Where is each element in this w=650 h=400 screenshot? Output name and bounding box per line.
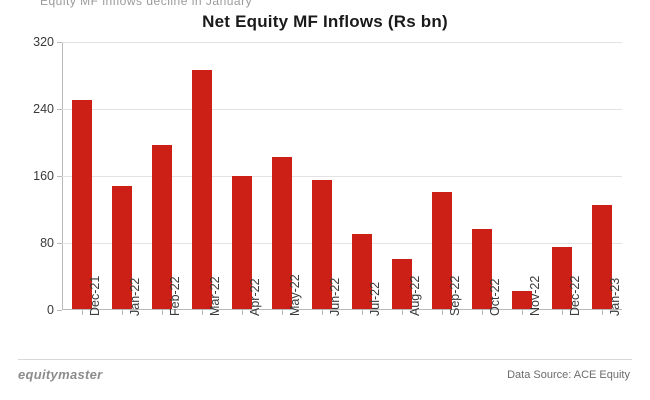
chart-container: Equity MF inflows decline in January Net… — [0, 0, 650, 400]
x-tick-mark — [82, 310, 83, 315]
x-tick-mark — [282, 310, 283, 315]
x-tick-label: Jul-22 — [368, 282, 382, 316]
y-tick-label: 0 — [47, 303, 54, 317]
y-tick-mark — [57, 310, 62, 311]
x-tick-mark — [122, 310, 123, 315]
y-tick-label: 160 — [33, 169, 54, 183]
x-tick-mark — [442, 310, 443, 315]
x-tick-label: Dec-21 — [88, 276, 102, 316]
x-tick-mark — [162, 310, 163, 315]
x-tick-label: Aug-22 — [408, 276, 422, 316]
clipped-headline-text: Equity MF inflows decline in January — [40, 0, 252, 8]
x-tick-label: Apr-22 — [248, 278, 262, 316]
bar — [192, 70, 212, 309]
x-tick-mark — [402, 310, 403, 315]
x-tick-label: Jan-22 — [128, 278, 142, 316]
y-tick-label: 320 — [33, 35, 54, 49]
footer-divider — [18, 359, 632, 360]
x-tick-label: Jan-23 — [608, 278, 622, 316]
y-tick-label: 80 — [40, 236, 54, 250]
x-tick-label: Dec-22 — [568, 276, 582, 316]
y-tick-label: 240 — [33, 102, 54, 116]
watermark-equitymaster: equitymaster — [18, 367, 103, 382]
x-tick-label: Sep-22 — [448, 276, 462, 316]
chart-title: Net Equity MF Inflows (Rs bn) — [0, 12, 650, 32]
x-tick-mark — [562, 310, 563, 315]
plot-area — [62, 42, 622, 310]
x-tick-mark — [202, 310, 203, 315]
x-tick-label: May-22 — [288, 274, 302, 316]
x-tick-mark — [322, 310, 323, 315]
x-tick-label: Mar-22 — [208, 276, 222, 316]
x-tick-mark — [482, 310, 483, 315]
x-tick-label: Nov-22 — [528, 276, 542, 316]
data-source-note: Data Source: ACE Equity — [507, 369, 630, 381]
x-tick-label: Feb-22 — [168, 276, 182, 316]
x-tick-mark — [362, 310, 363, 315]
x-tick-label: Jun-22 — [328, 278, 342, 316]
x-tick-mark — [242, 310, 243, 315]
x-tick-label: Oct-22 — [488, 278, 502, 316]
bar-series — [62, 42, 622, 310]
x-tick-mark — [602, 310, 603, 315]
x-tick-mark — [522, 310, 523, 315]
